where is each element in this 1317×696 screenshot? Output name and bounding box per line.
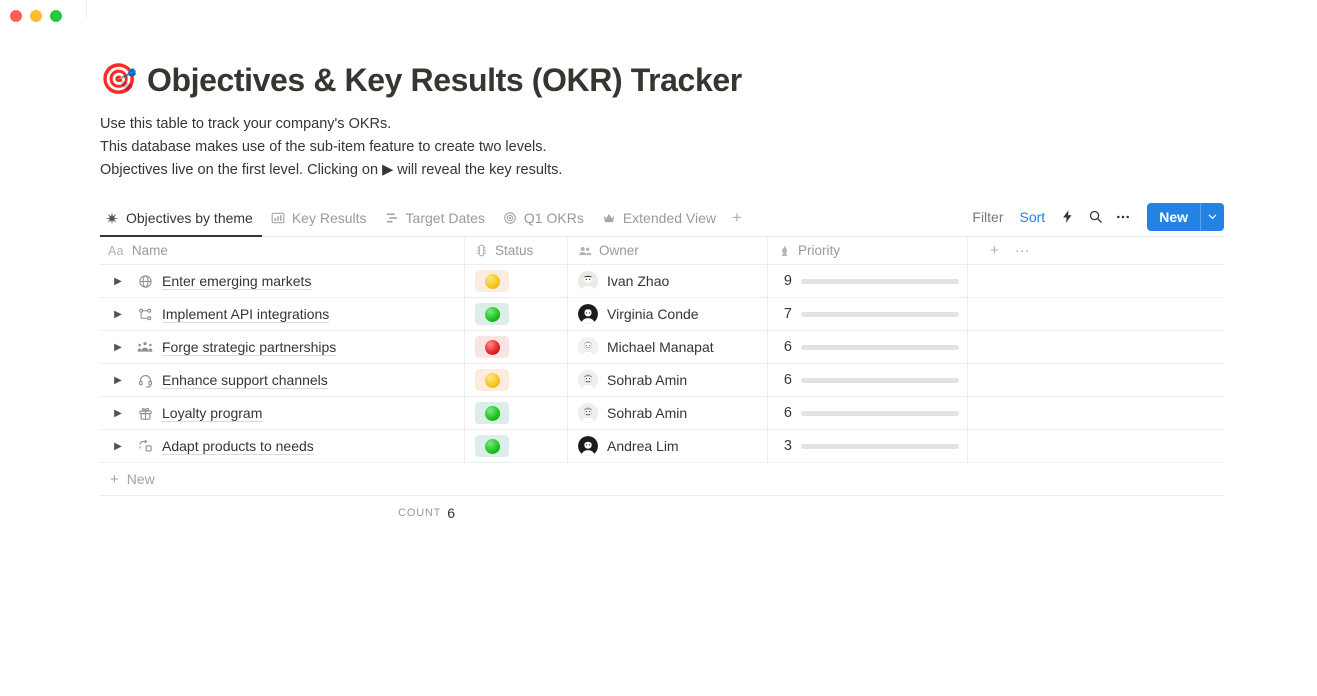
- plus-icon: +: [110, 471, 119, 488]
- table-row[interactable]: ▶ Adapt products to needs: [100, 430, 1224, 463]
- new-button[interactable]: New: [1147, 203, 1224, 231]
- tab-extended-view[interactable]: Extended View: [593, 200, 725, 236]
- row-owner-cell[interactable]: Andrea Lim: [568, 430, 768, 462]
- row-owner-cell[interactable]: Sohrab Amin: [568, 397, 768, 429]
- gift-icon: [136, 404, 154, 422]
- table-header-row: Aa Name Status: [100, 237, 1224, 265]
- priority-value: 7: [778, 306, 792, 322]
- table-row[interactable]: ▶ Forge strategic partnerships Michael M…: [100, 331, 1224, 364]
- page-content: 🎯 Objectives & Key Results (OKR) Tracker…: [0, 32, 1317, 530]
- row-status-cell[interactable]: [465, 331, 568, 363]
- column-options-button[interactable]: ···: [1007, 242, 1038, 259]
- new-button-label: New: [1147, 203, 1200, 231]
- traffic-lights: [10, 10, 62, 22]
- owner-name: Ivan Zhao: [607, 273, 669, 289]
- column-header-name[interactable]: Aa Name: [100, 237, 465, 264]
- target-emoji-icon: 🎯: [100, 65, 137, 95]
- column-header-label: Status: [495, 243, 533, 258]
- table-row[interactable]: ▶ Enhance support channels: [100, 364, 1224, 397]
- avatar: [578, 370, 598, 390]
- lightning-icon[interactable]: [1053, 204, 1081, 230]
- row-status-cell[interactable]: [465, 364, 568, 396]
- view-toolbar: Filter Sort New: [964, 200, 1224, 236]
- page-description: Use this table to track your company's O…: [100, 113, 1317, 182]
- avatar: [578, 271, 598, 291]
- view-bar: Objectives by theme Key Results: [100, 200, 1224, 237]
- expand-row-toggle[interactable]: ▶: [108, 436, 128, 456]
- row-title[interactable]: Implement API integrations: [162, 306, 329, 322]
- table-row[interactable]: ▶ Implement API integrations Virginia Co…: [100, 298, 1224, 331]
- chevron-down-icon[interactable]: [1200, 203, 1224, 231]
- tab-label: Objectives by theme: [126, 210, 253, 226]
- tab-label: Q1 OKRs: [524, 210, 584, 226]
- priority-value: 6: [778, 405, 792, 421]
- close-window-button[interactable]: [10, 10, 22, 22]
- row-priority-cell[interactable]: 6: [768, 331, 968, 363]
- avatar: [578, 304, 598, 324]
- row-title[interactable]: Enhance support channels: [162, 372, 328, 388]
- status-badge-yellow: [475, 270, 509, 292]
- row-owner-cell[interactable]: Michael Manapat: [568, 331, 768, 363]
- filter-button[interactable]: Filter: [964, 205, 1011, 229]
- row-priority-cell[interactable]: 6: [768, 364, 968, 396]
- page-title: 🎯 Objectives & Key Results (OKR) Tracker: [100, 60, 1317, 100]
- status-badge-green: [475, 402, 509, 424]
- add-column-button[interactable]: +: [982, 242, 1007, 259]
- status-badge-green: [475, 303, 509, 325]
- row-empty-cell: [968, 298, 1224, 330]
- status-badge-green: [475, 435, 509, 457]
- traffic-light-icon: [475, 244, 488, 257]
- tab-target-dates[interactable]: Target Dates: [376, 200, 494, 236]
- status-badge-yellow: [475, 369, 509, 391]
- tab-label: Extended View: [623, 210, 716, 226]
- column-header-label: Name: [132, 243, 168, 258]
- count-summary[interactable]: COUNT 6: [100, 505, 465, 521]
- row-name-cell[interactable]: ▶ Loyalty program: [100, 397, 465, 429]
- row-name-cell[interactable]: ▶ Forge strategic partnerships: [100, 331, 465, 363]
- table-footer: COUNT 6: [100, 496, 1224, 530]
- tab-q1-okrs[interactable]: Q1 OKRs: [494, 200, 593, 236]
- column-header-status[interactable]: Status: [465, 237, 568, 264]
- priority-bar: [801, 279, 959, 284]
- count-label: COUNT: [398, 507, 441, 519]
- row-priority-cell[interactable]: 9: [768, 265, 968, 297]
- tab-objectives-by-theme[interactable]: Objectives by theme: [100, 200, 262, 236]
- row-empty-cell: [968, 397, 1224, 429]
- row-title[interactable]: Enter emerging markets: [162, 273, 311, 289]
- database-table: Aa Name Status: [100, 237, 1224, 496]
- tab-label: Key Results: [292, 210, 367, 226]
- priority-value: 3: [778, 438, 792, 454]
- owner-name: Sohrab Amin: [607, 405, 687, 421]
- minimize-window-button[interactable]: [30, 10, 42, 22]
- row-priority-cell[interactable]: 3: [768, 430, 968, 462]
- description-line-1: Use this table to track your company's O…: [100, 113, 1317, 136]
- sort-button[interactable]: Sort: [1012, 205, 1054, 229]
- asterisk-icon: [105, 211, 119, 225]
- view-tabs: Objectives by theme Key Results: [100, 200, 749, 236]
- aa-text-icon: Aa: [108, 244, 124, 258]
- new-row-label: New: [127, 471, 155, 487]
- people-group-icon: [136, 338, 154, 356]
- network-icon: [136, 305, 154, 323]
- people-icon: [578, 244, 592, 258]
- priority-bar: [801, 444, 959, 449]
- avatar: [578, 403, 598, 423]
- flame-icon: [778, 244, 791, 257]
- column-header-actions: + ···: [968, 237, 1224, 264]
- window-corner: [86, 0, 87, 18]
- priority-bar: [801, 378, 959, 383]
- description-line-3: Objectives live on the first level. Clic…: [100, 159, 1317, 182]
- row-owner-cell[interactable]: Ivan Zhao: [568, 265, 768, 297]
- owner-name: Andrea Lim: [607, 438, 679, 454]
- ellipsis-icon[interactable]: [1109, 204, 1137, 230]
- window-titlebar: [0, 0, 1317, 32]
- table-row[interactable]: ▶ Loyalty program: [100, 397, 1224, 430]
- row-owner-cell[interactable]: Virginia Conde: [568, 298, 768, 330]
- row-name-cell[interactable]: ▶ Implement API integrations: [100, 298, 465, 330]
- row-title[interactable]: Loyalty program: [162, 405, 262, 421]
- crown-icon: [602, 211, 616, 225]
- page-header: 🎯 Objectives & Key Results (OKR) Tracker…: [0, 32, 1317, 182]
- row-name-cell[interactable]: ▶ Adapt products to needs: [100, 430, 465, 462]
- description-line-2: This database makes use of the sub-item …: [100, 136, 1317, 159]
- priority-value: 6: [778, 372, 792, 388]
- owner-name: Michael Manapat: [607, 339, 714, 355]
- row-empty-cell: [968, 364, 1224, 396]
- table-row[interactable]: ▶ Enter emerging markets Ivan Zhao: [100, 265, 1224, 298]
- maximize-window-button[interactable]: [50, 10, 62, 22]
- column-header-label: Priority: [798, 243, 840, 258]
- expand-row-toggle[interactable]: ▶: [108, 403, 128, 423]
- priority-bar: [801, 411, 959, 416]
- tab-label: Target Dates: [406, 210, 485, 226]
- row-status-cell[interactable]: [465, 430, 568, 462]
- expand-row-toggle[interactable]: ▶: [108, 370, 128, 390]
- row-owner-cell[interactable]: Sohrab Amin: [568, 364, 768, 396]
- column-header-priority[interactable]: Priority: [768, 237, 968, 264]
- column-header-label: Owner: [599, 243, 639, 258]
- add-new-row-button[interactable]: + New: [100, 463, 1224, 496]
- swap-icon: [136, 437, 154, 455]
- row-empty-cell: [968, 265, 1224, 297]
- avatar: [578, 436, 598, 456]
- globe-icon: [136, 272, 154, 290]
- row-empty-cell: [968, 430, 1224, 462]
- priority-bar: [801, 345, 959, 350]
- row-empty-cell: [968, 331, 1224, 363]
- column-header-owner[interactable]: Owner: [568, 237, 768, 264]
- row-priority-cell[interactable]: 7: [768, 298, 968, 330]
- owner-name: Virginia Conde: [607, 306, 699, 322]
- count-value: 6: [447, 505, 455, 521]
- expand-row-toggle[interactable]: ▶: [108, 304, 128, 324]
- row-title[interactable]: Adapt products to needs: [162, 438, 314, 454]
- target-icon: [503, 211, 517, 225]
- expand-row-toggle[interactable]: ▶: [108, 337, 128, 357]
- priority-value: 6: [778, 339, 792, 355]
- row-priority-cell[interactable]: 6: [768, 397, 968, 429]
- row-status-cell[interactable]: [465, 265, 568, 297]
- row-name-cell[interactable]: ▶ Enhance support channels: [100, 364, 465, 396]
- priority-value: 9: [778, 273, 792, 289]
- tab-key-results[interactable]: Key Results: [262, 200, 376, 236]
- expand-row-toggle[interactable]: ▶: [108, 271, 128, 291]
- row-title[interactable]: Forge strategic partnerships: [162, 339, 336, 355]
- add-view-button[interactable]: +: [725, 200, 749, 236]
- timeline-icon: [385, 211, 399, 225]
- row-status-cell[interactable]: [465, 298, 568, 330]
- row-name-cell[interactable]: ▶ Enter emerging markets: [100, 265, 465, 297]
- avatar: [578, 337, 598, 357]
- row-status-cell[interactable]: [465, 397, 568, 429]
- headset-icon: [136, 371, 154, 389]
- owner-name: Sohrab Amin: [607, 372, 687, 388]
- status-badge-red: [475, 336, 509, 358]
- bar-chart-icon: [271, 211, 285, 225]
- search-icon[interactable]: [1081, 204, 1109, 230]
- priority-bar: [801, 312, 959, 317]
- page-title-text: Objectives & Key Results (OKR) Tracker: [147, 60, 742, 100]
